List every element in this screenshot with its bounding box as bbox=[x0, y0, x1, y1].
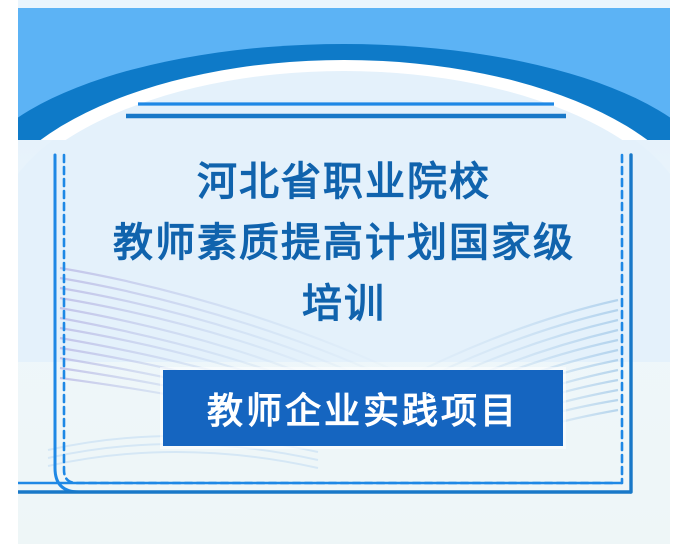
title-line-2: 教师素质提高计划国家级 bbox=[78, 213, 610, 274]
header-band bbox=[18, 8, 670, 140]
subtitle-banner-label: 教师企业实践项目 bbox=[207, 382, 519, 434]
poster-title: 河北省职业院校 教师素质提高计划国家级 培训 bbox=[78, 152, 610, 335]
title-line-3: 培训 bbox=[78, 274, 610, 335]
subtitle-banner: 教师企业实践项目 bbox=[163, 370, 563, 446]
poster-canvas: 河北省职业院校 教师素质提高计划国家级 培训 教师企业实践项目 bbox=[18, 0, 670, 544]
top-strip bbox=[18, 0, 670, 8]
poster-root: 河北省职业院校 教师素质提高计划国家级 培训 教师企业实践项目 bbox=[0, 0, 688, 544]
title-line-1: 河北省职业院校 bbox=[78, 152, 610, 213]
